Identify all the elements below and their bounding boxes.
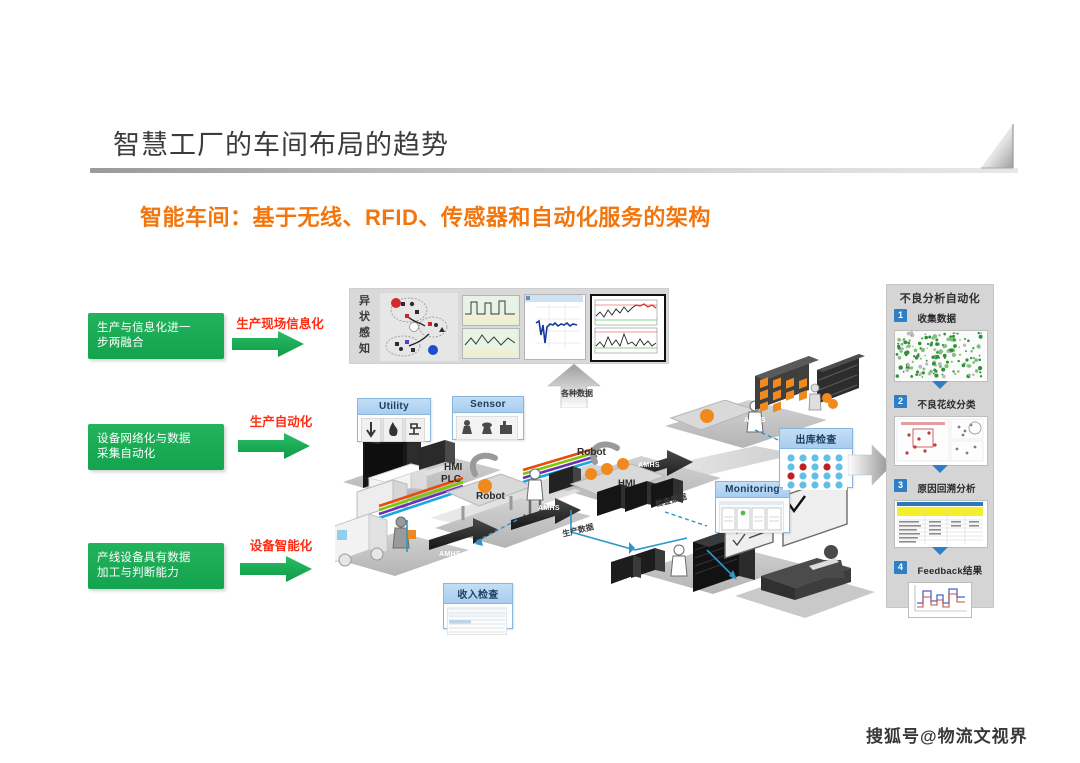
analysis-step-3: 3 原因回溯分析: [894, 479, 986, 548]
stage-arrow-label-2: 生产自动化: [234, 411, 328, 430]
analysis-arrow-2-icon: [932, 465, 948, 473]
income-check-caption: 收入检查: [444, 584, 512, 604]
amhs-label-3: AMHS: [638, 462, 660, 469]
anomaly-detection-bar: 异状感知: [349, 288, 669, 364]
analysis-step-1-number: 1: [894, 309, 907, 322]
warehouse-shelf: [755, 352, 865, 430]
stage-box-3-line2: 加工与判断能力: [88, 566, 224, 581]
page-title: 智慧工厂的车间布局的趋势: [113, 123, 449, 162]
amhs-label-2: AMHS: [538, 505, 560, 512]
robot-label-1: Robot: [476, 491, 505, 502]
stage-arrow-3-icon: [240, 556, 312, 582]
stage-box-1-line2: 步两融合: [88, 336, 224, 351]
title-divider: [90, 168, 1018, 173]
sensor-box-icons: [453, 413, 523, 443]
outbound-check-caption: 出库检查: [780, 429, 852, 449]
anomaly-bar-label: 异状感知: [355, 293, 375, 359]
analysis-step-2: 2 不良花纹分类: [894, 395, 986, 466]
sensor-box: Sensor: [452, 396, 524, 440]
sensor-box-caption: Sensor: [453, 397, 523, 413]
income-check-box: 收入检查: [443, 583, 513, 629]
watermark: 搜狐号@物流文视界: [866, 722, 1028, 747]
stage-box-2: 设备网络化与数据 采集自动化: [88, 424, 224, 470]
analysis-step-1: 1 收集数据: [894, 309, 986, 382]
stage-arrow-2-icon: [238, 433, 310, 459]
stage-box-1-line1: 生产与信息化进一: [88, 313, 224, 336]
analysis-step-3-label: 原因回溯分析: [917, 483, 975, 496]
analysis-panel: 不良分析自动化 1 收集数据 2 不良花纹分类 3: [886, 284, 994, 608]
income-check-screenshot: [444, 604, 512, 638]
analysis-step-1-label: 收集数据: [917, 313, 956, 326]
outbound-check-box: 出库检查: [779, 428, 853, 488]
plc-label: PLC: [441, 474, 461, 485]
stage-arrow-label-1: 生产现场信息化: [228, 313, 332, 332]
monitoring-box: Monitoring: [715, 481, 790, 533]
analysis-step-3-number: 3: [894, 479, 907, 492]
stage-box-2-line1: 设备网络化与数据: [88, 424, 224, 447]
anomaly-network-graph: [380, 293, 458, 361]
analysis-step-2-number: 2: [894, 395, 907, 408]
utility-box: Utility: [357, 398, 431, 442]
analysis-panel-title: 不良分析自动化: [887, 290, 993, 306]
stage-box-1: 生产与信息化进一 步两融合: [88, 313, 224, 359]
analysis-step-4-thumb: [908, 582, 972, 618]
analysis-step-3-thumb: [894, 500, 988, 548]
stage-box-2-line2: 采集自动化: [88, 447, 224, 462]
anomaly-chart-1: [462, 295, 520, 326]
stage-arrow-label-3: 设备智能化: [238, 535, 324, 554]
analysis-step-4-label: Feedback结果: [917, 565, 982, 578]
hmi-label-1: HMI: [444, 462, 462, 473]
anomaly-chart-spc: [590, 294, 666, 362]
page-subtitle: 智能车间：基于无线、RFID、传感器和自动化服务的架构: [140, 200, 711, 232]
analysis-step-1-thumb: [894, 330, 988, 382]
page-corner-fold-icon: [981, 122, 1019, 172]
data-flow-label: 各种数据: [561, 388, 593, 399]
monitoring-box-screenshot: [716, 498, 789, 536]
stage-box-3: 产线设备具有数据 加工与判断能力: [88, 543, 224, 589]
analysis-step-2-label: 不良花纹分类: [917, 399, 975, 412]
amhs-label-1: AMHS: [439, 551, 461, 558]
stage-arrow-1-icon: [232, 331, 304, 357]
stage-box-3-line1: 产线设备具有数据: [88, 543, 224, 566]
analysis-arrow-1-icon: [932, 381, 948, 389]
hmi-label-3: HMI: [618, 478, 635, 489]
utility-box-caption: Utility: [358, 399, 430, 415]
outbound-check-grid: [780, 449, 852, 493]
utility-box-icons: [358, 415, 430, 445]
analysis-step-4: 4 Feedback结果: [894, 561, 986, 618]
anomaly-chart-timeseries: [524, 294, 586, 360]
analysis-step-4-number: 4: [894, 561, 907, 574]
analysis-step-2-thumb: [894, 416, 988, 466]
hmi-label-2: HMI: [523, 513, 540, 524]
anomaly-chart-2: [462, 328, 520, 359]
analysis-arrow-3-icon: [932, 547, 948, 555]
robot-label-2: Robot: [577, 447, 606, 458]
